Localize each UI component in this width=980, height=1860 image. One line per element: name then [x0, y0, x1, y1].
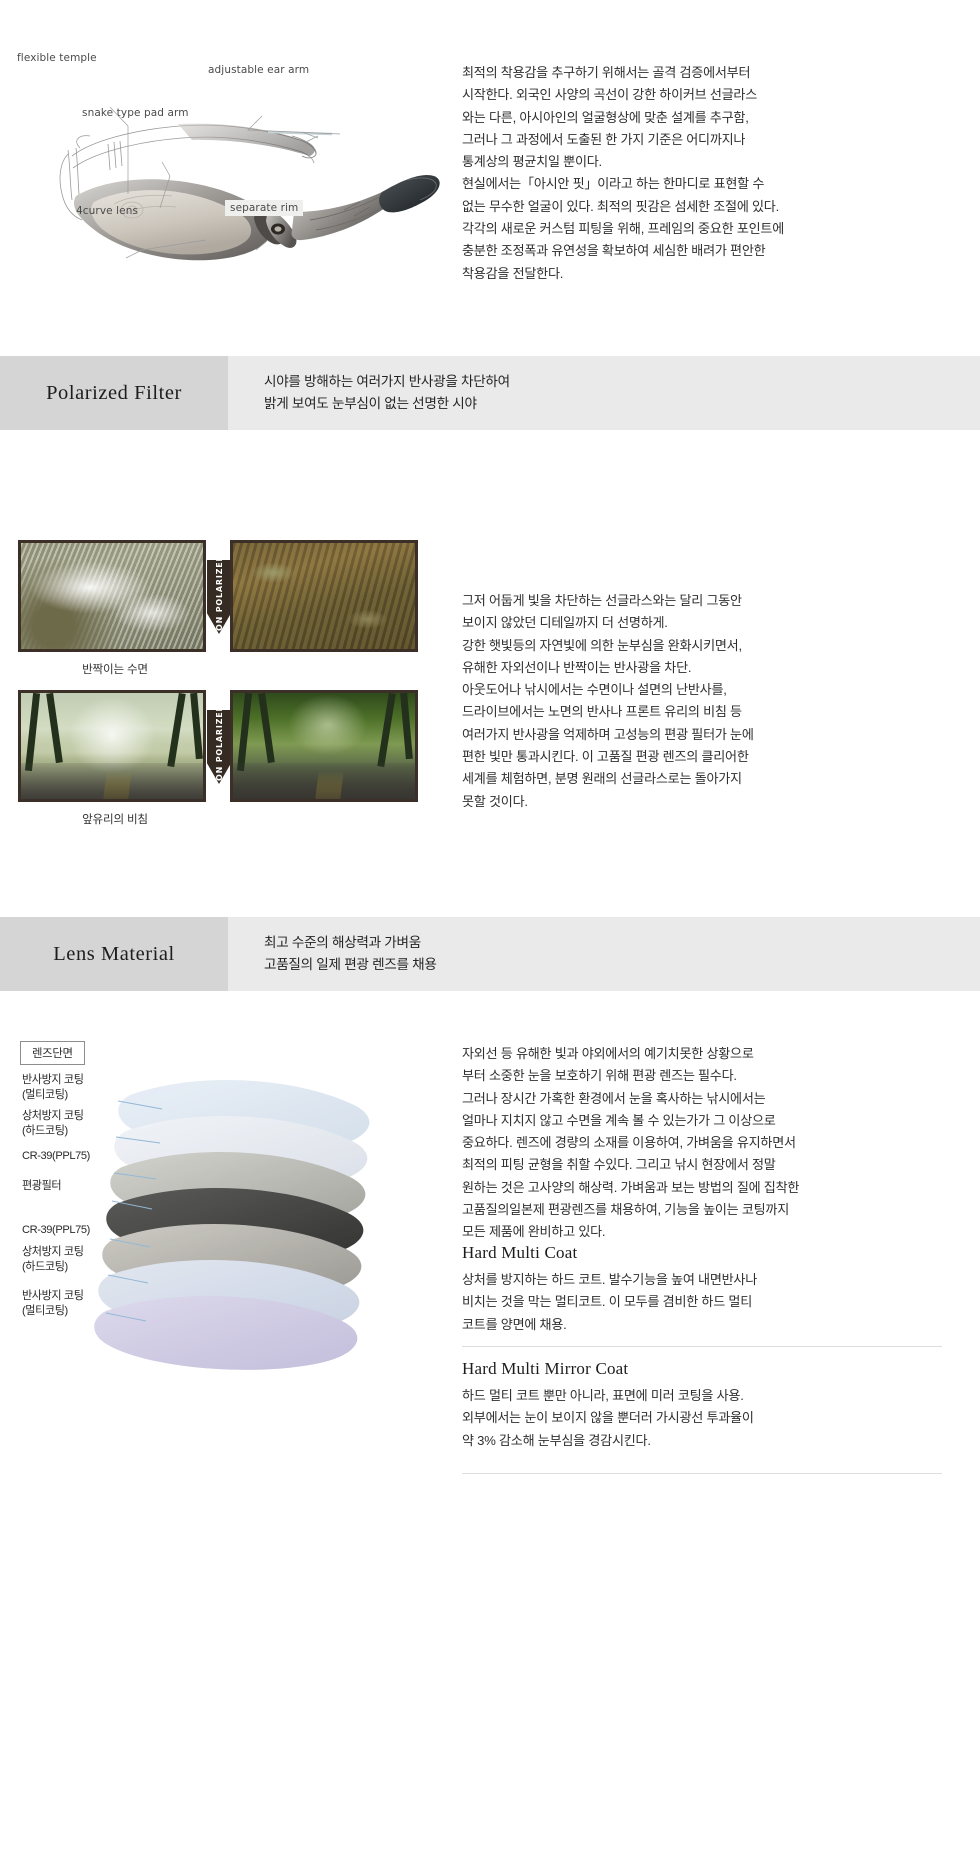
lens-label-polarizing-filter: 편광필터 [22, 1179, 61, 1194]
photo-water-unpolarized [18, 540, 206, 652]
band-subtitle-line-2: 밝게 보여도 눈부심이 없는 선명한 시야 [264, 393, 980, 415]
callout-4curve-lens: 4curve lens [76, 205, 138, 217]
photo-road-unpolarized [18, 690, 206, 802]
band-title-text-polarized: Polarized Filter [46, 382, 182, 405]
lens-label-line-2: (멀티코팅) [22, 1304, 84, 1319]
lens-label-anti-scratch-hard-top: 상처방지 코팅 (하드코팅) [22, 1109, 84, 1139]
polarized-body-copy: 그저 어둡게 빛을 차단하는 선글라스와는 달리 그동안 보이지 않았던 디테일… [462, 590, 942, 813]
photo-row-water: ON POLARIZED 반짝이는 수면 [18, 540, 438, 690]
product-feature-page: flexible temple adjustable ear arm snake… [0, 0, 980, 1591]
arrow-tag-on-polarized-2: ON POLARIZED [207, 710, 231, 784]
arrow-tag-label-2: ON POLARIZED [215, 704, 224, 781]
lens-label-line-1: 상처방지 코팅 [22, 1109, 84, 1124]
photo-row-road: ON POLARIZED 앞유리의 비침 [18, 690, 438, 840]
lens-label-line-1: 반사방지 코팅 [22, 1289, 84, 1304]
band-subtitle-lens-line-2: 고품질의 일제 편광 렌즈를 채용 [264, 954, 980, 976]
band-subtitle-line-1: 시야를 방해하는 여러가지 반사광을 차단하여 [264, 371, 980, 393]
photo-road-polarized [230, 690, 418, 802]
lens-label-anti-scratch-hard-bottom: 상처방지 코팅 (하드코팅) [22, 1245, 84, 1275]
section-band-polarized-filter: Polarized Filter 시야를 방해하는 여러가지 반사광을 차단하여… [0, 356, 980, 430]
callout-separate-rim: separate rim [225, 200, 303, 216]
band-title-polarized: Polarized Filter [0, 356, 228, 430]
sub-block-hard-multi-coat: Hard Multi Coat 상처를 방지하는 하드 코트. 발수기능을 높여… [462, 1243, 942, 1336]
arrow-tag-on-polarized-1: ON POLARIZED [207, 560, 231, 634]
polarized-photo-grid: ON POLARIZED 반짝이는 수면 [18, 540, 438, 840]
section-frame-design: flexible temple adjustable ear arm snake… [0, 0, 980, 356]
lens-label-line-2: (하드코팅) [22, 1124, 84, 1139]
sub-block-hard-multi-mirror-coat: Hard Multi Mirror Coat 하드 멀티 코트 뿐만 아니라, … [462, 1359, 942, 1452]
callout-flexible-temple: flexible temple [17, 52, 97, 64]
sub-block-body-hard-multi-mirror-coat: 하드 멀티 코트 뿐만 아니라, 표면에 미러 코팅을 사용. 외부에서는 눈이… [462, 1385, 942, 1452]
section-polarized-comparison: ON POLARIZED 반짝이는 수면 [0, 430, 980, 917]
lens-label-anti-reflective-multi-bottom: 반사방지 코팅 (멀티코팅) [22, 1289, 84, 1319]
lens-cross-section-box-label: 렌즈단면 [20, 1041, 85, 1065]
arrow-tag-label-1: ON POLARIZED [215, 554, 224, 631]
band-title-lens: Lens Material [0, 917, 228, 991]
sub-block-heading-hard-multi-coat: Hard Multi Coat [462, 1243, 942, 1263]
sub-block-body-hard-multi-coat: 상처를 방지하는 하드 코트. 발수기능을 높여 내면반사나 비치는 것을 막는… [462, 1269, 942, 1336]
lens-label-line-2: (멀티코팅) [22, 1088, 84, 1103]
photo-caption-road: 앞유리의 비침 [18, 811, 212, 827]
photo-caption-water: 반짝이는 수면 [18, 661, 212, 677]
section-band-lens-material: Lens Material 최고 수준의 해상력과 가벼움 고품질의 일제 편광… [0, 917, 980, 991]
sub-block-heading-hard-multi-mirror-coat: Hard Multi Mirror Coat [462, 1359, 942, 1379]
band-title-text-lens: Lens Material [53, 943, 175, 966]
lens-label-cr39-ppl75-top: CR-39(PPL75) [22, 1149, 90, 1164]
lens-label-line-2: (하드코팅) [22, 1260, 84, 1275]
lens-label-anti-reflective-multi-top: 반사방지 코팅 (멀티코팅) [22, 1073, 84, 1103]
section-lens-material: 렌즈단면 반사방지 코팅 (멀티코팅) 상처방지 코팅 (하드코팅) CR-39… [0, 991, 980, 1591]
band-subtitle-polarized: 시야를 방해하는 여러가지 반사광을 차단하여 밝게 보여도 눈부심이 없는 선… [228, 356, 980, 430]
lens-label-cr39-ppl75-bottom: CR-39(PPL75) [22, 1223, 90, 1238]
divider-hairline-1 [462, 1346, 942, 1347]
sunglasses-line-drawing [10, 44, 450, 294]
band-subtitle-lens-line-1: 최고 수준의 해상력과 가벼움 [264, 932, 980, 954]
intro-body-copy: 최적의 착용감을 추구하기 위해서는 골격 검증에서부터 시작한다. 외국인 사… [462, 62, 942, 285]
callout-adjustable-ear-arm: adjustable ear arm [208, 64, 309, 76]
lens-body-copy: 자외선 등 유해한 빛과 야외에서의 예기치못한 상황으로 부터 소중한 눈을 … [462, 1043, 942, 1244]
photo-water-polarized [230, 540, 418, 652]
divider-hairline-2 [462, 1473, 942, 1474]
lens-label-line-1: 상처방지 코팅 [22, 1245, 84, 1260]
band-subtitle-lens: 최고 수준의 해상력과 가벼움 고품질의 일제 편광 렌즈를 채용 [228, 917, 980, 991]
callout-snake-type-pad-arm: snake type pad arm [82, 107, 189, 119]
lens-label-line-1: 반사방지 코팅 [22, 1073, 84, 1088]
